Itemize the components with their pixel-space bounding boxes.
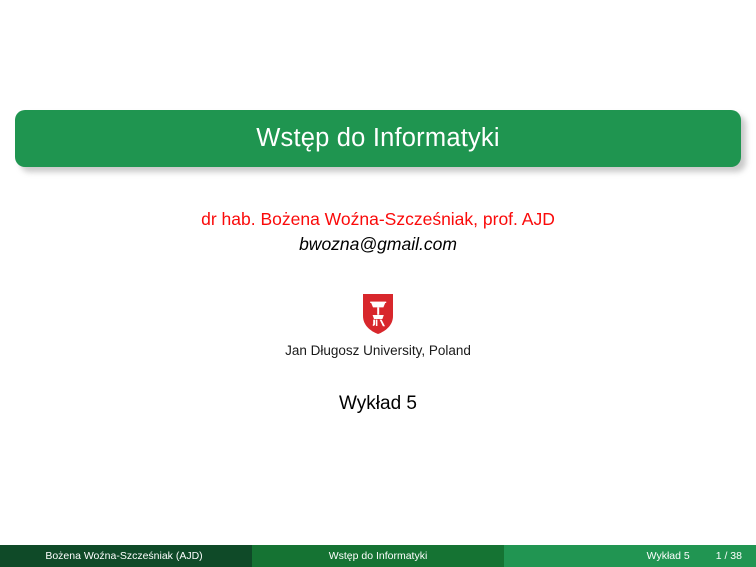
author-name: dr hab. Bożena Woźna-Szcześniak, prof. A… (0, 208, 756, 232)
author-block: dr hab. Bożena Woźna-Szcześniak, prof. A… (0, 208, 756, 257)
institution-logo (0, 294, 756, 334)
slide-title: Wstęp do Informatyki (256, 126, 500, 152)
slide-title-banner: Wstęp do Informatyki (15, 110, 741, 167)
slide-footer: Bożena Woźna-Szcześniak (AJD) Wstęp do I… (0, 545, 756, 567)
institution-name: Jan Długosz University, Poland (0, 343, 756, 358)
footer-right-segment: Wykład 5 1 / 38 (504, 545, 756, 567)
lecture-label: Wykład 5 (0, 393, 756, 415)
footer-page-number: 1 / 38 (716, 550, 742, 562)
footer-lecture: Wykład 5 (647, 550, 690, 562)
author-email: bwozna@gmail.com (0, 232, 756, 257)
footer-author: Bożena Woźna-Szcześniak (AJD) (0, 545, 252, 567)
jan-dlugosz-university-crest-icon (363, 294, 393, 334)
presentation-slide: Wstęp do Informatyki dr hab. Bożena Woźn… (0, 0, 756, 567)
footer-title: Wstęp do Informatyki (252, 545, 504, 567)
